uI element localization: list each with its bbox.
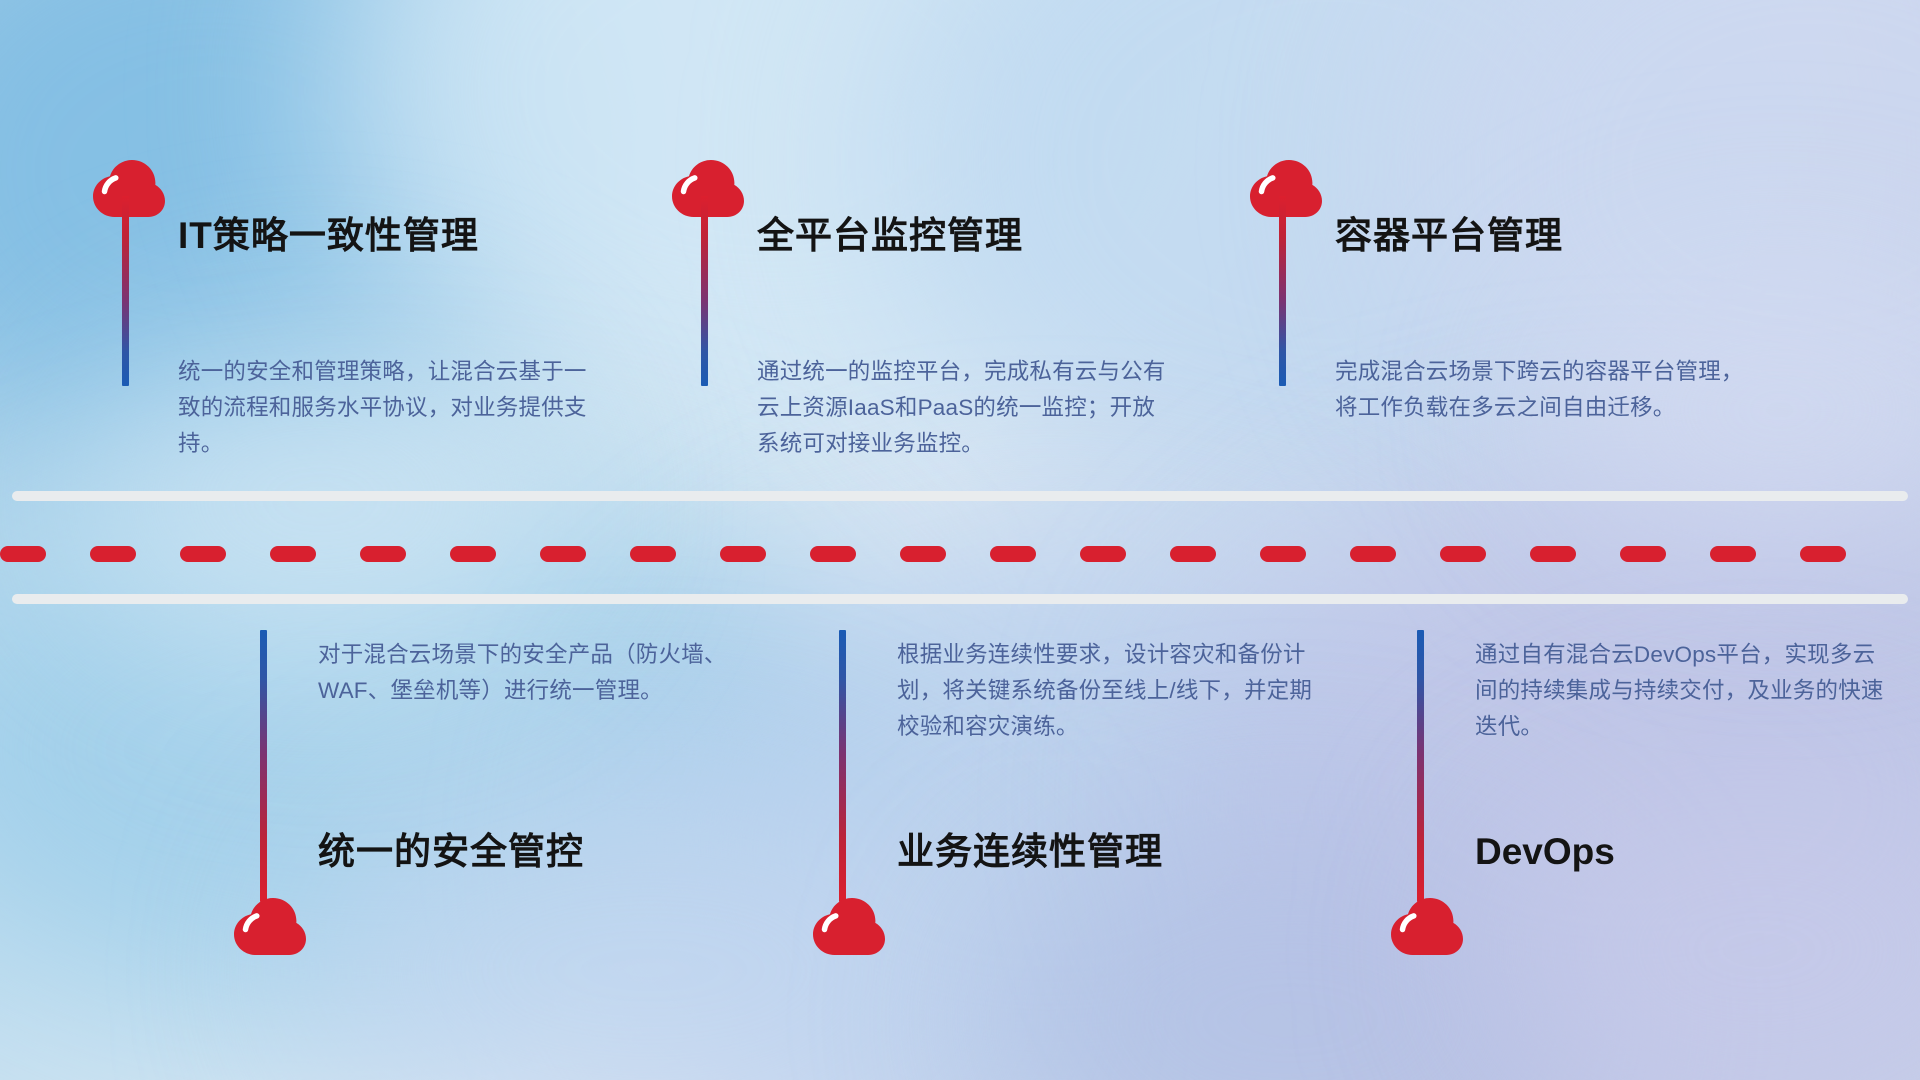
card-heading: 容器平台管理 <box>1335 217 1563 254</box>
divider-dash <box>630 546 676 562</box>
divider-dash <box>1350 546 1396 562</box>
card-body-text: 统一的安全和管理策略，让混合云基于一致的流程和服务水平协议，对业务提供支持。 <box>178 354 598 462</box>
card-heading: 全平台监控管理 <box>757 217 1023 254</box>
connector-stem <box>1279 196 1286 386</box>
divider-dash <box>1260 546 1306 562</box>
card-heading: 业务连续性管理 <box>897 833 1163 870</box>
card-body-text: 根据业务连续性要求，设计容灾和备份计划，将关键系统备份至线上/线下，并定期校验和… <box>897 637 1317 745</box>
card-heading: 统一的安全管控 <box>318 833 584 870</box>
divider-dash <box>810 546 856 562</box>
divider-dash <box>180 546 226 562</box>
card-body-text: 通过统一的监控平台，完成私有云与公有云上资源IaaS和PaaS的统一监控；开放系… <box>757 354 1177 462</box>
divider-line-bottom <box>12 594 1908 604</box>
connector-stem <box>701 196 708 386</box>
card-body-text: 对于混合云场景下的安全产品（防火墙、WAF、堡垒机等）进行统一管理。 <box>318 637 738 709</box>
divider-dash <box>1530 546 1576 562</box>
card-heading: IT策略一致性管理 <box>178 217 479 254</box>
divider-line-top <box>12 491 1908 501</box>
divider-dash <box>720 546 766 562</box>
connector-stem <box>839 630 846 902</box>
connector-stem <box>1417 630 1424 902</box>
connector-stem <box>122 196 129 386</box>
divider-dash <box>270 546 316 562</box>
divider-dash <box>1440 546 1486 562</box>
divider-dash <box>1620 546 1666 562</box>
divider-dash <box>900 546 946 562</box>
divider-dash <box>990 546 1036 562</box>
divider-dash <box>450 546 496 562</box>
divider-dash <box>360 546 406 562</box>
divider-dash <box>0 546 46 562</box>
divider-dash <box>1170 546 1216 562</box>
card-body-text: 通过自有混合云DevOps平台，实现多云间的持续集成与持续交付，及业务的快速迭代… <box>1475 637 1895 745</box>
divider-dash <box>540 546 586 562</box>
divider-dash <box>1710 546 1756 562</box>
divider-dashed-line <box>0 546 1920 562</box>
card-body-text: 完成混合云场景下跨云的容器平台管理，将工作负载在多云之间自由迁移。 <box>1335 354 1755 426</box>
divider-dash <box>1080 546 1126 562</box>
connector-stem <box>260 630 267 902</box>
card-heading: DevOps <box>1475 833 1615 870</box>
divider-dash <box>90 546 136 562</box>
infographic-stage: IT策略一致性管理 统一的安全和管理策略，让混合云基于一致的流程和服务水平协议，… <box>0 0 1920 1080</box>
divider-dash <box>1800 546 1846 562</box>
